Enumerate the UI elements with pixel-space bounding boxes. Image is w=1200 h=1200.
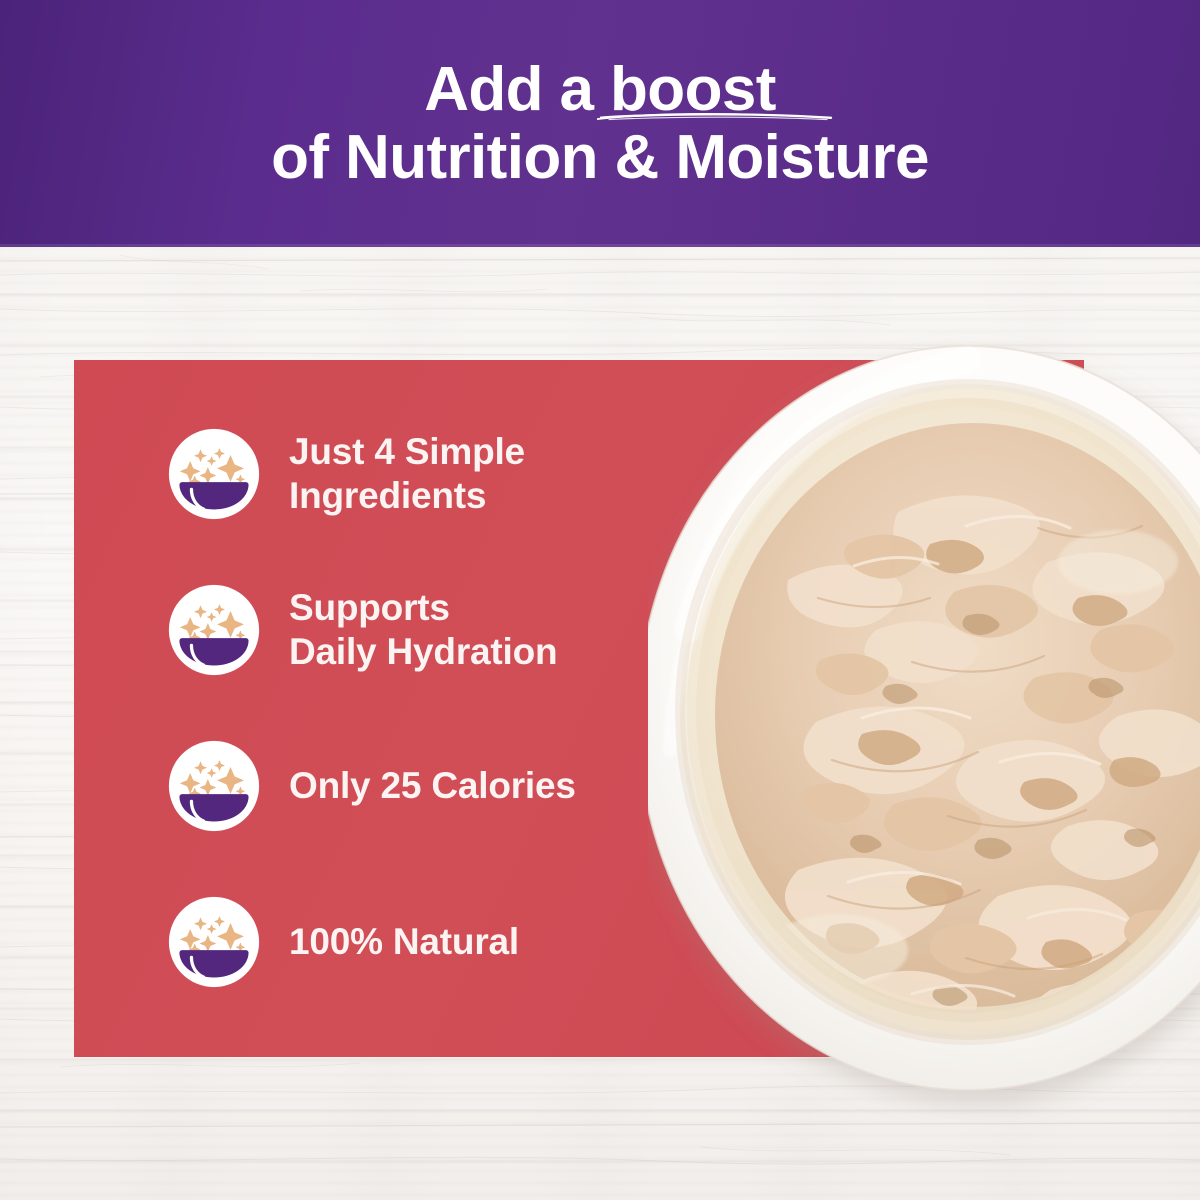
sparkle-bowl-icon [166,894,262,990]
feature-list: Just 4 Simple Ingredients [74,360,694,1020]
headline-line-1: Add a boost [424,56,776,124]
feature-item-calories: Only 25 Calories [166,708,694,864]
feature-label: Only 25 Calories [289,764,576,808]
feature-item-daily-hydration: Supports Daily Hydration [166,552,694,708]
feature-label: Just 4 Simple Ingredients [289,430,525,517]
header-text-block: Add a boost of Nutrition & Moisture [0,0,1200,247]
feature-panel: Just 4 Simple Ingredients [74,360,1084,1057]
sparkle-bowl-icon [166,738,262,834]
feature-label: Supports Daily Hydration [289,586,557,673]
sparkle-bowl-icon [166,426,262,522]
feature-item-simple-ingredients: Just 4 Simple Ingredients [166,396,694,552]
product-feature-infographic: Add a boost of Nutrition & Moisture [0,0,1200,1200]
header-banner: Add a boost of Nutrition & Moisture [0,0,1200,247]
feature-item-natural: 100% Natural [166,864,694,1020]
sparkle-bowl-icon [166,582,262,678]
feature-label: 100% Natural [289,920,519,964]
headline-line-2: of Nutrition & Moisture [271,124,929,192]
